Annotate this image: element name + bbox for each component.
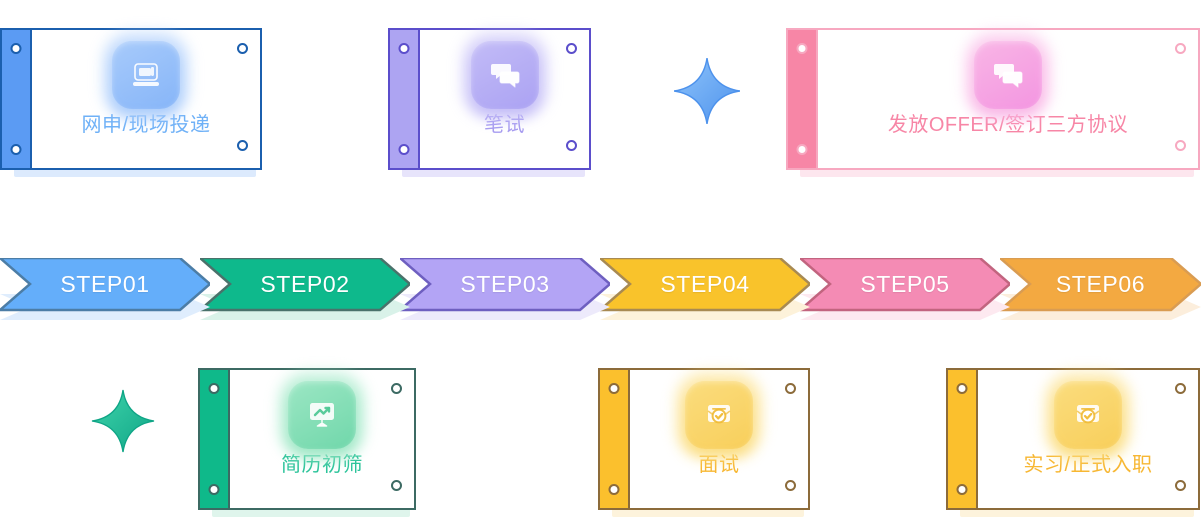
step-label: STEP04 <box>660 271 749 298</box>
card-spine <box>786 28 818 170</box>
card-offer[interactable]: 发放OFFER/签订三方协议 <box>786 28 1200 170</box>
binder-hole-icon <box>11 144 22 155</box>
binder-hole-icon <box>209 484 220 495</box>
step-03[interactable]: STEP03 <box>400 258 610 310</box>
binder-hole-icon <box>1175 480 1186 491</box>
card-onboarding[interactable]: 实习/正式入职 <box>946 368 1200 510</box>
binder-hole-icon <box>1175 383 1186 394</box>
step-label: STEP06 <box>1056 271 1145 298</box>
card-spine <box>946 368 978 510</box>
mail-check-icon <box>700 396 738 434</box>
icon-tile <box>112 41 180 109</box>
step-04[interactable]: STEP04 <box>600 258 810 310</box>
card-spine <box>388 28 420 170</box>
laptop-icon <box>127 56 165 94</box>
icon-tile <box>685 381 753 449</box>
binder-hole-icon <box>11 43 22 54</box>
step-label: STEP05 <box>860 271 949 298</box>
card-written-test[interactable]: 笔试 <box>388 28 591 170</box>
step-06[interactable]: STEP06 <box>1000 258 1201 310</box>
binder-hole-icon <box>391 383 402 394</box>
binder-hole-icon <box>237 140 248 151</box>
sparkle-blue-icon <box>672 56 742 131</box>
card-body: 简历初筛 <box>230 368 416 510</box>
card-interview[interactable]: 面试 <box>598 368 810 510</box>
step-arrow-bar: STEP01STEP02STEP03STEP04STEP05STEP06 <box>0 258 1201 330</box>
card-spine <box>598 368 630 510</box>
step-05[interactable]: STEP05 <box>800 258 1010 310</box>
binder-hole-icon <box>785 480 796 491</box>
binder-hole-icon <box>957 484 968 495</box>
mail-check-icon <box>1069 396 1107 434</box>
binder-hole-icon <box>237 43 248 54</box>
step-01[interactable]: STEP01 <box>0 258 210 310</box>
step-label: STEP03 <box>460 271 549 298</box>
binder-hole-icon <box>1175 140 1186 151</box>
card-spine <box>198 368 230 510</box>
card-body: 发放OFFER/签订三方协议 <box>818 28 1200 170</box>
binder-hole-icon <box>391 480 402 491</box>
binder-hole-icon <box>399 144 410 155</box>
binder-hole-icon <box>797 43 808 54</box>
icon-tile <box>1054 381 1122 449</box>
chat-bubbles-icon <box>486 56 524 94</box>
card-online-application[interactable]: 网申/现场投递 <box>0 28 262 170</box>
icon-tile <box>974 41 1042 109</box>
step-label: STEP02 <box>260 271 349 298</box>
binder-hole-icon <box>797 144 808 155</box>
binder-hole-icon <box>399 43 410 54</box>
card-resume-screening[interactable]: 简历初筛 <box>198 368 416 510</box>
binder-hole-icon <box>566 43 577 54</box>
binder-hole-icon <box>957 383 968 394</box>
sparkle-green-icon <box>90 388 156 459</box>
binder-hole-icon <box>566 140 577 151</box>
icon-tile <box>288 381 356 449</box>
step-02[interactable]: STEP02 <box>200 258 410 310</box>
card-body: 面试 <box>630 368 810 510</box>
binder-hole-icon <box>785 383 796 394</box>
card-spine <box>0 28 32 170</box>
icon-tile <box>471 41 539 109</box>
binder-hole-icon <box>609 383 620 394</box>
binder-hole-icon <box>1175 43 1186 54</box>
card-body: 实习/正式入职 <box>978 368 1200 510</box>
binder-hole-icon <box>209 383 220 394</box>
chart-board-icon <box>303 396 341 434</box>
card-body: 笔试 <box>420 28 591 170</box>
binder-hole-icon <box>609 484 620 495</box>
chat-bubbles-icon <box>989 56 1027 94</box>
step-label: STEP01 <box>60 271 149 298</box>
card-body: 网申/现场投递 <box>32 28 262 170</box>
